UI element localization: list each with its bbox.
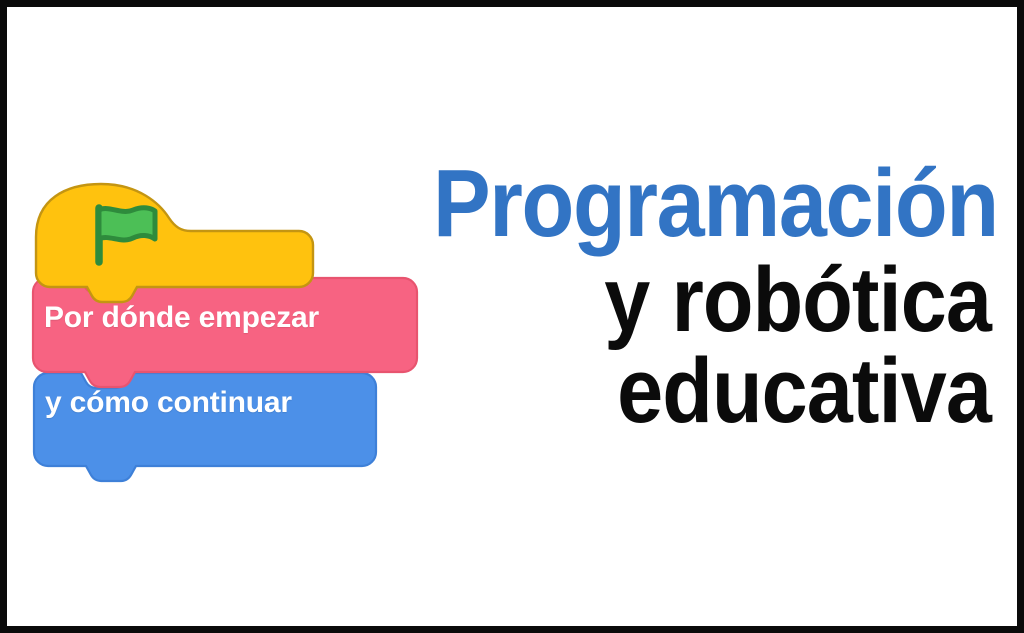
scratch-block-stack: Por dónde empezar y cómo continuar (21, 171, 431, 481)
hat-block-shape[interactable] (36, 184, 313, 302)
headline-group: Programación y robótica educativa (371, 157, 991, 437)
headline-line-programacion: Programación (433, 157, 991, 250)
blue-block-label: y cómo continuar (45, 386, 292, 420)
pink-block-label: Por dónde empezar (44, 301, 319, 335)
hat-block-when-green-flag-clicked[interactable] (36, 184, 313, 302)
headline-line-educativa: educativa (433, 347, 991, 436)
green-flag-cloth (99, 208, 155, 240)
poster-canvas: Por dónde empezar y cómo continuar Progr… (0, 0, 1024, 633)
headline-line-y-robotica: y robótica (433, 256, 991, 345)
